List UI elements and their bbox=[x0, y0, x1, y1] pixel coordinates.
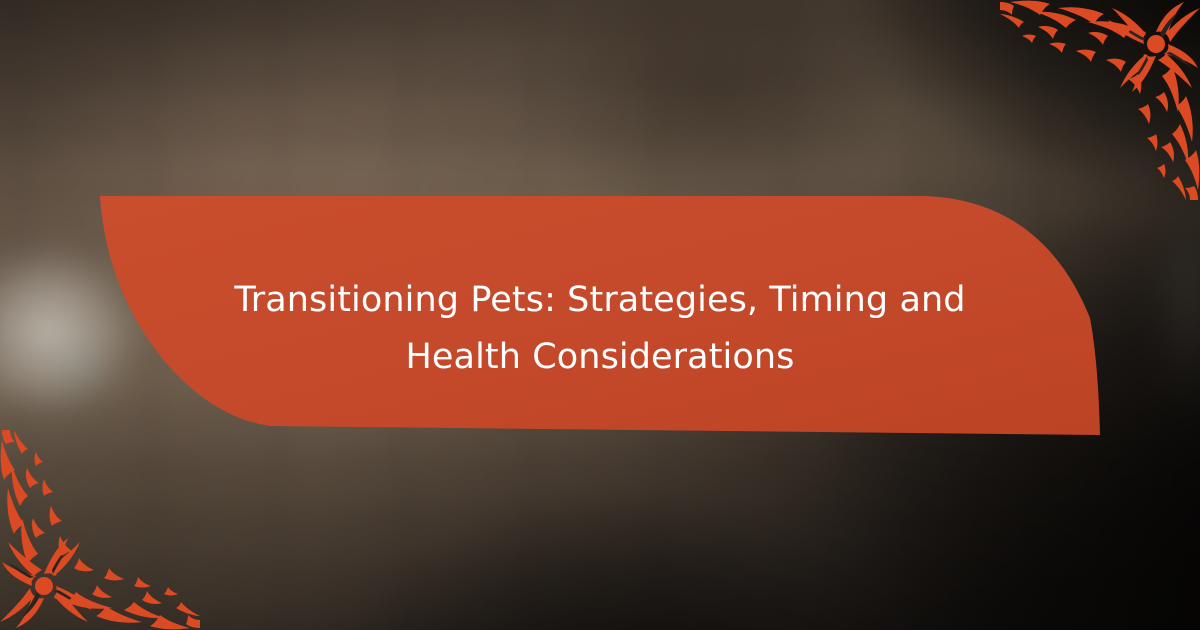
page-title: Transitioning Pets: Strategies, Timing a… bbox=[186, 272, 1014, 386]
corner-ornament-bottom-left-icon bbox=[0, 430, 200, 630]
corner-ornament-top-right-icon bbox=[1000, 0, 1200, 200]
social-card: Transitioning Pets: Strategies, Timing a… bbox=[0, 0, 1200, 630]
